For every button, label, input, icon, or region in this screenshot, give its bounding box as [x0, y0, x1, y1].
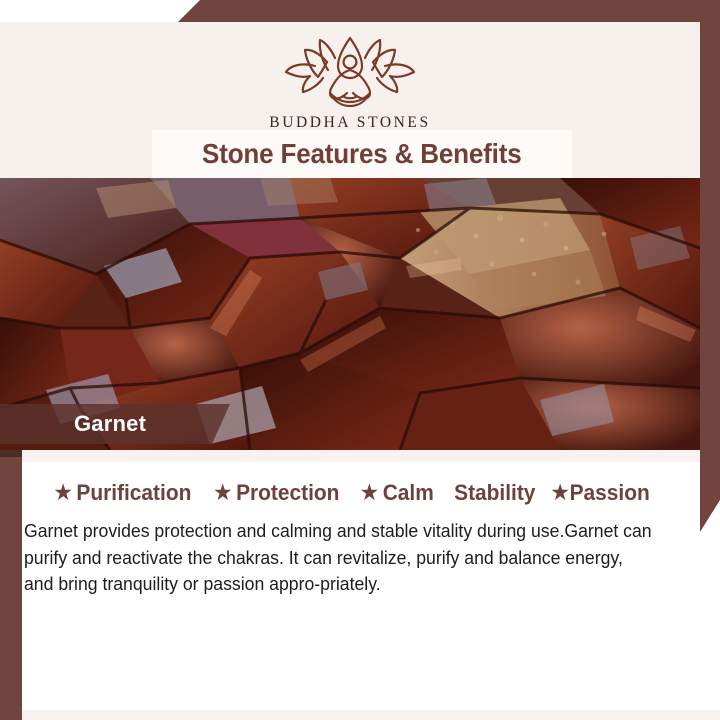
star-icon: ★ [361, 483, 378, 503]
star-icon: ★ [55, 483, 72, 503]
benefit-item-purification: ★ Purification [55, 480, 192, 506]
brand-logo: BUDDHA STONES [0, 32, 700, 132]
infographic-card: BUDDHA STONES Stone Features & Benefits [0, 0, 720, 720]
benefit-item-passion: ★ Passion [552, 480, 650, 506]
benefits-row: ★ Purification ★ Protection ★ Calm Stabi… [22, 480, 682, 506]
benefit-label: Purification [77, 480, 192, 506]
lotus-meditation-logo-icon [275, 32, 425, 110]
star-icon: ★ [552, 483, 569, 503]
star-icon: ★ [215, 483, 232, 503]
benefit-item-stability: Stability [454, 480, 535, 506]
left-accent-border [0, 437, 22, 720]
benefit-label: Protection [236, 480, 339, 506]
benefit-label: Passion [570, 480, 650, 506]
page-title: Stone Features & Benefits [202, 138, 521, 170]
bottom-strip [22, 710, 720, 720]
title-banner: Stone Features & Benefits [152, 130, 572, 178]
benefit-label: Calm [383, 480, 434, 506]
benefit-item-protection: ★ Protection [215, 480, 340, 506]
stone-description: Garnet provides protection and calming a… [24, 518, 656, 598]
benefit-item-calm: ★ Calm [361, 480, 434, 506]
content-panel: ★ Purification ★ Protection ★ Calm Stabi… [22, 450, 700, 720]
stone-name: Garnet [74, 411, 146, 437]
right-accent-border [700, 22, 720, 532]
benefit-label: Stability [454, 480, 535, 506]
stone-name-banner: Garnet [0, 404, 230, 444]
top-accent-band [0, 0, 720, 22]
content-top-strip [22, 450, 700, 462]
